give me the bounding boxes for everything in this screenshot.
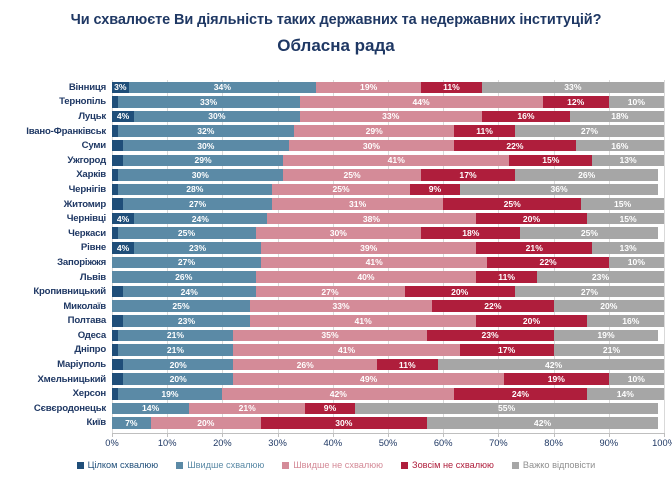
- bar-row-label: Суми: [0, 140, 112, 151]
- bar-row: Ужгород29%41%15%13%: [0, 153, 672, 168]
- bar-segment: 19%: [504, 373, 609, 385]
- bar-segment: 32%: [118, 125, 295, 137]
- bar-segment: 25%: [272, 184, 410, 196]
- bar-row: Маріуполь20%26%11%42%: [0, 357, 672, 372]
- bar-segment: 13%: [592, 242, 664, 254]
- legend-item[interactable]: Важко відповісти: [512, 460, 595, 470]
- bar-segment: 42%: [222, 388, 454, 400]
- bar-row-segments: 14%21%9%55%: [112, 403, 664, 415]
- x-axis-tick: [112, 433, 113, 437]
- bar-segment: 34%: [129, 82, 317, 94]
- bar-segment: 35%: [233, 330, 426, 342]
- bar-row: Луцьк4%30%33%16%18%: [0, 109, 672, 124]
- bar-row-segments: 33%44%12%10%: [112, 96, 664, 108]
- legend-label: Важко відповісти: [523, 460, 595, 470]
- x-axis-tick: [664, 433, 665, 437]
- bar-row: Запоріжжя27%41%22%10%: [0, 255, 672, 270]
- bar-row-segments: 21%41%17%21%: [112, 344, 664, 356]
- bar-segment: 20%: [123, 359, 233, 371]
- bar-segment: 30%: [261, 417, 427, 429]
- bar-segment: 3%: [112, 82, 129, 94]
- x-axis-tick: [278, 433, 279, 437]
- bar-segment: 33%: [482, 82, 664, 94]
- page-title: Чи схвалюєте Ви діяльність таких державн…: [36, 12, 636, 30]
- bar-segment: 26%: [233, 359, 377, 371]
- bar-segment: 9%: [410, 184, 460, 196]
- legend-item[interactable]: Швидше схвалюю: [176, 460, 264, 470]
- bar-segment: 17%: [421, 169, 515, 181]
- bar-segment: 25%: [443, 198, 581, 210]
- legend-swatch-icon: [401, 462, 408, 469]
- bar-segment: 42%: [427, 417, 659, 429]
- bar-segment: 16%: [482, 111, 570, 123]
- bar-row-segments: 25%33%22%20%: [112, 300, 664, 312]
- bar-segment: 41%: [283, 155, 509, 167]
- bar-row-segments: 20%26%11%42%: [112, 359, 664, 371]
- bar-segment: 20%: [151, 417, 261, 429]
- plot-area: Вінниця3%34%19%11%33%Тернопіль33%44%12%1…: [0, 80, 672, 435]
- legend-label: Зовсім не схвалюю: [412, 460, 494, 470]
- bar-row-segments: 23%41%20%16%: [112, 315, 664, 327]
- bar-segment: 16%: [576, 140, 664, 152]
- bar-row-label: Сєвєродонецьк: [0, 403, 112, 414]
- bar-row: Черкаси25%30%18%25%: [0, 226, 672, 241]
- legend-label: Цілком схвалюю: [88, 460, 159, 470]
- bar-row-label: Чернігів: [0, 184, 112, 195]
- x-axis-tick: [222, 433, 223, 437]
- bar-segment: 11%: [476, 271, 537, 283]
- bar-segment: 33%: [250, 300, 432, 312]
- bar-row: Херсон19%42%24%14%: [0, 386, 672, 401]
- bar-row-label: Львів: [0, 272, 112, 283]
- bar-segment: 4%: [112, 213, 134, 225]
- x-axis-tick-label: 40%: [323, 438, 342, 448]
- bar-segment: 41%: [233, 344, 459, 356]
- bar-row: Миколаїв25%33%22%20%: [0, 299, 672, 314]
- bar-segment: 33%: [300, 111, 482, 123]
- bar-segment: 15%: [509, 155, 592, 167]
- bar-row-label: Харків: [0, 169, 112, 180]
- legend-swatch-icon: [176, 462, 183, 469]
- bar-row-label: Луцьк: [0, 111, 112, 122]
- bar-segment: 19%: [316, 82, 421, 94]
- x-axis-tick-label: 100%: [652, 438, 672, 448]
- bar-segment: 14%: [112, 403, 189, 415]
- bar-row-segments: 30%25%17%26%: [112, 169, 664, 181]
- bar-row: Тернопіль33%44%12%10%: [0, 95, 672, 110]
- bar-row: Київ7%20%30%42%: [0, 416, 672, 431]
- bar-segment: 42%: [438, 359, 664, 371]
- bar-segment: 17%: [460, 344, 554, 356]
- bar-segment: 25%: [112, 300, 250, 312]
- bar-segment: [112, 140, 123, 152]
- bar-segment: 25%: [118, 227, 256, 239]
- bar-row: Вінниця3%34%19%11%33%: [0, 80, 672, 95]
- bar-row: Чернігів28%25%9%36%: [0, 182, 672, 197]
- bar-row-label: Київ: [0, 417, 112, 428]
- bar-segment: 20%: [554, 300, 664, 312]
- bar-segment: 21%: [118, 344, 234, 356]
- bar-row-segments: 32%29%11%27%: [112, 125, 664, 137]
- bar-segment: 20%: [405, 286, 515, 298]
- bar-row-segments: 28%25%9%36%: [112, 184, 664, 196]
- bar-row-segments: 7%20%30%42%: [112, 417, 664, 429]
- x-axis-tick-label: 20%: [213, 438, 232, 448]
- bar-segment: 25%: [520, 227, 658, 239]
- bar-row-segments: 20%49%19%10%: [112, 373, 664, 385]
- bar-segment: 14%: [587, 388, 664, 400]
- bar-row: Кропивницький24%27%20%27%: [0, 284, 672, 299]
- bar-row-label: Чернівці: [0, 213, 112, 224]
- bar-row-segments: 27%41%22%10%: [112, 257, 664, 269]
- bar-segment: 11%: [377, 359, 438, 371]
- bar-segment: 4%: [112, 242, 134, 254]
- legend-item[interactable]: Цілком схвалюю: [77, 460, 159, 470]
- bar-segment: 21%: [118, 330, 234, 342]
- x-axis-tick-label: 70%: [489, 438, 508, 448]
- bar-row-segments: 30%30%22%16%: [112, 140, 664, 152]
- bar-segment: 30%: [134, 111, 300, 123]
- bar-segment: 21%: [476, 242, 592, 254]
- bar-segment: 29%: [123, 155, 283, 167]
- bar-segment: 22%: [454, 140, 575, 152]
- bar-segment: 23%: [123, 315, 250, 327]
- legend-label: Швидше схвалюю: [187, 460, 264, 470]
- bar-segment: 23%: [134, 242, 261, 254]
- bar-row-segments: 21%35%23%19%: [112, 330, 664, 342]
- bar-segment: 49%: [233, 373, 503, 385]
- bar-segment: 23%: [537, 271, 664, 283]
- bar-segment: 24%: [454, 388, 586, 400]
- bar-segment: 31%: [272, 198, 443, 210]
- bar-segment: [112, 198, 123, 210]
- bar-segment: 23%: [427, 330, 554, 342]
- bar-segment: 24%: [123, 286, 255, 298]
- bar-row: Одеса21%35%23%19%: [0, 328, 672, 343]
- bar-segment: 27%: [256, 286, 405, 298]
- legend-item[interactable]: Швидше не схвалюю: [282, 460, 383, 470]
- legend-swatch-icon: [282, 462, 289, 469]
- bar-row-label: Полтава: [0, 315, 112, 326]
- x-axis-tick: [609, 433, 610, 437]
- bar-row: Полтава23%41%20%16%: [0, 314, 672, 329]
- bar-segment: 15%: [581, 198, 664, 210]
- bar-row: Суми30%30%22%16%: [0, 138, 672, 153]
- bar-row: Житомир27%31%25%15%: [0, 197, 672, 212]
- x-axis-tick-label: 30%: [268, 438, 287, 448]
- bar-segment: 20%: [123, 373, 233, 385]
- bar-segment: 27%: [515, 125, 664, 137]
- bar-row: Рівне4%23%39%21%13%: [0, 241, 672, 256]
- bar-segment: [112, 373, 123, 385]
- bar-row-label: Кропивницький: [0, 286, 112, 297]
- legend-item[interactable]: Зовсім не схвалюю: [401, 460, 494, 470]
- bar-segment: 21%: [554, 344, 664, 356]
- bar-row-segments: 25%30%18%25%: [112, 227, 664, 239]
- x-axis-tick-label: 90%: [599, 438, 618, 448]
- bar-row-label: Маріуполь: [0, 359, 112, 370]
- x-axis-tick: [498, 433, 499, 437]
- bar-segment: 26%: [515, 169, 659, 181]
- bar-segment: 27%: [112, 257, 261, 269]
- bar-row: Дніпро21%41%17%21%: [0, 343, 672, 358]
- bar-segment: 16%: [587, 315, 664, 327]
- bar-row: Львів26%40%11%23%: [0, 270, 672, 285]
- bar-segment: 28%: [118, 184, 273, 196]
- bar-segment: 20%: [476, 213, 586, 225]
- bar-row-label: Черкаси: [0, 228, 112, 239]
- bar-segment: 7%: [112, 417, 151, 429]
- x-axis-tick-label: 0%: [105, 438, 118, 448]
- title-block: Чи схвалюєте Ви діяльність таких державн…: [0, 0, 672, 56]
- bar-segment: 9%: [305, 403, 355, 415]
- bar-row-label: Тернопіль: [0, 96, 112, 107]
- bar-row: Чернівці4%24%38%20%15%: [0, 211, 672, 226]
- bar-row-label: Ужгород: [0, 155, 112, 166]
- bar-segment: 39%: [261, 242, 476, 254]
- x-axis-tick: [167, 433, 168, 437]
- bar-row-label: Івано-Франківськ: [0, 126, 112, 137]
- bar-row-label: Рівне: [0, 242, 112, 253]
- bar-row-label: Херсон: [0, 388, 112, 399]
- bar-row: Хмельницький20%49%19%10%: [0, 372, 672, 387]
- x-axis-tick-label: 80%: [544, 438, 563, 448]
- bar-segment: 27%: [515, 286, 664, 298]
- bar-row: Івано-Франківськ32%29%11%27%: [0, 124, 672, 139]
- x-axis-tick: [388, 433, 389, 437]
- bar-segment: 41%: [261, 257, 487, 269]
- bar-segment: 40%: [256, 271, 477, 283]
- bar-segment: 30%: [289, 140, 455, 152]
- bar-row-segments: 3%34%19%11%33%: [112, 82, 664, 94]
- bar-segment: 11%: [421, 82, 482, 94]
- bar-row-label: Вінниця: [0, 82, 112, 93]
- bar-row-label: Хмельницький: [0, 374, 112, 385]
- bar-segment: 21%: [189, 403, 305, 415]
- bar-segment: 12%: [543, 96, 609, 108]
- bar-segment: 22%: [487, 257, 608, 269]
- x-axis-tick-label: 60%: [434, 438, 453, 448]
- bar-segment: 22%: [432, 300, 553, 312]
- bar-segment: 26%: [112, 271, 256, 283]
- bar-segment: 44%: [300, 96, 543, 108]
- bar-segment: 25%: [283, 169, 421, 181]
- bar-segment: 18%: [570, 111, 664, 123]
- bar-segment: 55%: [355, 403, 659, 415]
- bar-segment: 11%: [454, 125, 515, 137]
- bar-row-segments: 24%27%20%27%: [112, 286, 664, 298]
- bar-segment: [112, 286, 123, 298]
- bar-row-segments: 26%40%11%23%: [112, 271, 664, 283]
- bar-segment: 38%: [267, 213, 477, 225]
- bar-row-segments: 29%41%15%13%: [112, 155, 664, 167]
- x-axis-tick: [443, 433, 444, 437]
- bar-row-segments: 19%42%24%14%: [112, 388, 664, 400]
- bar-row-segments: 4%24%38%20%15%: [112, 213, 664, 225]
- bar-segment: 4%: [112, 111, 134, 123]
- bar-segment: 24%: [134, 213, 266, 225]
- bar-segment: 19%: [118, 388, 223, 400]
- bar-segment: 30%: [118, 169, 284, 181]
- bar-row: Сєвєродонецьк14%21%9%55%: [0, 401, 672, 416]
- x-axis-tick: [554, 433, 555, 437]
- bar-row-label: Запоріжжя: [0, 257, 112, 268]
- bar-segment: 18%: [421, 227, 520, 239]
- bar-segment: 30%: [256, 227, 422, 239]
- bar-row: Харків30%25%17%26%: [0, 168, 672, 183]
- bar-row-segments: 4%23%39%21%13%: [112, 242, 664, 254]
- bar-segment: 30%: [123, 140, 289, 152]
- bar-segment: 10%: [609, 373, 664, 385]
- chart-root: Чи схвалюєте Ви діяльність таких державн…: [0, 0, 672, 481]
- legend-swatch-icon: [77, 462, 84, 469]
- bar-segment: 36%: [460, 184, 659, 196]
- bar-segment: [112, 315, 123, 327]
- bar-segment: 19%: [554, 330, 659, 342]
- x-axis-tick-label: 10%: [158, 438, 177, 448]
- bar-segment: 10%: [609, 257, 664, 269]
- bar-segment: 15%: [587, 213, 664, 225]
- bar-segment: [112, 359, 123, 371]
- legend-swatch-icon: [512, 462, 519, 469]
- bar-segment: 27%: [123, 198, 272, 210]
- bar-segment: 33%: [118, 96, 300, 108]
- bar-segment: 41%: [250, 315, 476, 327]
- bar-segment: 20%: [476, 315, 586, 327]
- bar-row-label: Миколаїв: [0, 301, 112, 312]
- x-axis: 0%10%20%30%40%50%60%70%80%90%100%: [0, 433, 672, 453]
- x-axis-tick-label: 50%: [379, 438, 398, 448]
- chart-subtitle: Обласна рада: [0, 36, 672, 56]
- bar-segment: 13%: [592, 155, 664, 167]
- bar-row-label: Житомир: [0, 199, 112, 210]
- x-axis-tick: [333, 433, 334, 437]
- bar-row-label: Дніпро: [0, 344, 112, 355]
- legend: Цілком схвалююШвидше схвалююШвидше не сх…: [0, 460, 672, 470]
- bar-row-segments: 4%30%33%16%18%: [112, 111, 664, 123]
- bar-row-segments: 27%31%25%15%: [112, 198, 664, 210]
- bar-rows: Вінниця3%34%19%11%33%Тернопіль33%44%12%1…: [0, 80, 672, 430]
- bar-segment: [112, 155, 123, 167]
- bar-segment: 10%: [609, 96, 664, 108]
- legend-label: Швидше не схвалюю: [293, 460, 383, 470]
- bar-segment: 29%: [294, 125, 454, 137]
- bar-row-label: Одеса: [0, 330, 112, 341]
